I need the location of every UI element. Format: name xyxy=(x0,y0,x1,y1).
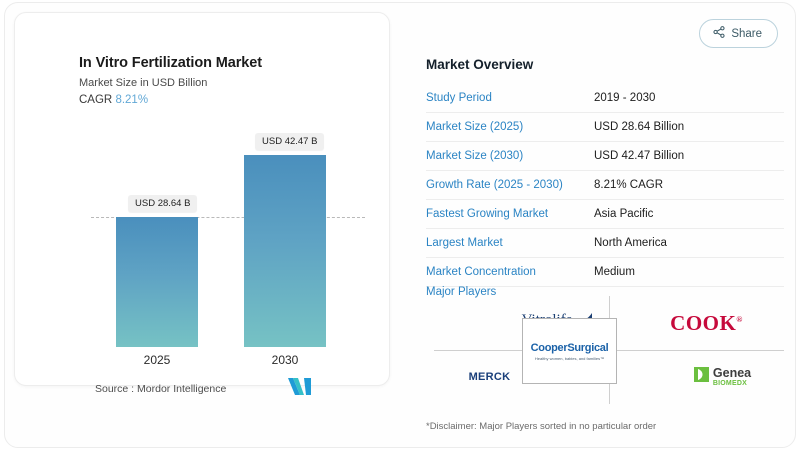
major-players-logo-grid: Vitrolife PART OF VITROLIFE GROUP COOK® … xyxy=(434,296,784,404)
source-text: Source : Mordor Intelligence xyxy=(95,383,226,395)
row-value: USD 28.64 Billion xyxy=(594,121,684,133)
row-value: Asia Pacific xyxy=(594,208,653,220)
cagr-label: CAGR xyxy=(79,94,112,106)
bar-chart-plot-area: USD 28.64 B USD 42.47 B 2025 2030 xyxy=(29,125,377,347)
market-overview-title: Market Overview xyxy=(426,57,533,72)
chart-title: In Vitro Fertilization Market xyxy=(79,55,262,71)
mordor-intelligence-logo xyxy=(288,378,312,400)
disclaimer-text: *Disclaimer: Major Players sorted in no … xyxy=(426,421,656,432)
row-value: Medium xyxy=(594,266,635,278)
bar-2030[interactable] xyxy=(244,155,326,347)
chart-card: In Vitro Fertilization Market Market Siz… xyxy=(14,12,390,386)
x-axis-label-2025: 2025 xyxy=(116,353,198,367)
row-value: 8.21% CAGR xyxy=(594,179,663,191)
table-row: Fastest Growing Market Asia Pacific xyxy=(426,200,784,229)
bar-value-label-2025: USD 28.64 B xyxy=(128,195,197,212)
table-row: Market Size (2030) USD 42.47 Billion xyxy=(426,142,784,171)
screenshot-root: In Vitro Fertilization Market Market Siz… xyxy=(0,0,800,450)
coopersurgical-tagline: Healthy women, babies, and families™ xyxy=(535,356,604,361)
share-nodes-icon xyxy=(713,26,725,41)
table-row: Market Concentration Medium xyxy=(426,258,784,287)
cook-name: COOK xyxy=(670,311,736,335)
row-value: USD 42.47 Billion xyxy=(594,150,684,162)
row-value: North America xyxy=(594,237,667,249)
row-key: Market Size (2030) xyxy=(426,150,594,162)
player-logo-coopersurgical: CooperSurgical Healthy women, babies, an… xyxy=(522,318,617,384)
market-overview-panel: Share Market Overview Study Period 2019 … xyxy=(412,12,784,438)
share-button[interactable]: Share xyxy=(699,19,778,48)
row-value: 2019 - 2030 xyxy=(594,92,655,104)
row-key: Largest Market xyxy=(426,237,594,249)
table-row: Largest Market North America xyxy=(426,229,784,258)
chart-subtitle: Market Size in USD Billion xyxy=(79,77,207,89)
table-row: Study Period 2019 - 2030 xyxy=(426,84,784,113)
row-key: Fastest Growing Market xyxy=(426,208,594,220)
genea-mark-icon xyxy=(694,367,709,387)
market-overview-table: Study Period 2019 - 2030 Market Size (20… xyxy=(426,84,784,287)
chart-cagr-line: CAGR 8.21% xyxy=(79,94,148,106)
x-axis-label-2030: 2030 xyxy=(244,353,326,367)
row-key: Growth Rate (2025 - 2030) xyxy=(426,179,594,191)
row-key: Market Concentration xyxy=(426,266,594,278)
genea-subname: BIOMEDX xyxy=(713,380,751,387)
table-row: Growth Rate (2025 - 2030) 8.21% CAGR xyxy=(426,171,784,200)
cagr-value: 8.21% xyxy=(115,94,148,106)
player-logo-cook: COOK® xyxy=(609,296,784,350)
share-button-label: Share xyxy=(731,28,762,40)
coopersurgical-name: CooperSurgical xyxy=(531,342,609,354)
merck-name: MERCK xyxy=(469,371,511,383)
bar-value-label-2030: USD 42.47 B xyxy=(255,133,324,150)
row-key: Study Period xyxy=(426,92,594,104)
source-row: Source : Mordor Intelligence xyxy=(95,378,312,400)
player-logo-genea: Genea BIOMEDX xyxy=(609,350,784,404)
genea-name: Genea xyxy=(713,367,751,380)
table-row: Market Size (2025) USD 28.64 Billion xyxy=(426,113,784,142)
row-key: Market Size (2025) xyxy=(426,121,594,133)
bar-2025[interactable] xyxy=(116,217,198,347)
